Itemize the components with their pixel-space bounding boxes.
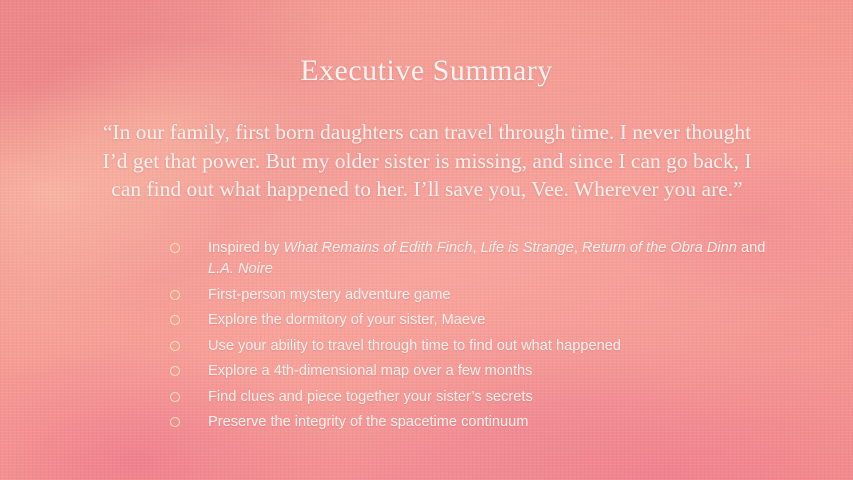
list-item: Inspired by What Remains of Edith Finch,… bbox=[170, 238, 770, 280]
list-item-label: Inspired by What Remains of Edith Finch,… bbox=[208, 238, 770, 280]
quote-paragraph: “In our family, first born daughters can… bbox=[88, 118, 766, 204]
ring-bullet-icon bbox=[170, 243, 180, 253]
list-item: First-person mystery adventure game bbox=[170, 285, 770, 306]
list-item: Explore a 4th-dimensional map over a few… bbox=[170, 361, 770, 382]
list-item: Find clues and piece together your siste… bbox=[170, 387, 770, 408]
ring-bullet-icon bbox=[170, 417, 180, 427]
ring-bullet-icon bbox=[170, 392, 180, 402]
list-item-label: Explore the dormitory of your sister, Ma… bbox=[208, 310, 770, 331]
ring-bullet-icon bbox=[170, 290, 180, 300]
list-item: Explore the dormitory of your sister, Ma… bbox=[170, 310, 770, 331]
list-item: Preserve the integrity of the spacetime … bbox=[170, 412, 770, 433]
page-title: Executive Summary bbox=[0, 54, 853, 88]
list-item-label: Preserve the integrity of the spacetime … bbox=[208, 412, 770, 433]
ring-bullet-icon bbox=[170, 341, 180, 351]
slide-content: Executive Summary “In our family, first … bbox=[0, 0, 853, 480]
list-item-label: Find clues and piece together your siste… bbox=[208, 387, 770, 408]
list-item: Use your ability to travel through time … bbox=[170, 336, 770, 357]
ring-bullet-icon bbox=[170, 315, 180, 325]
ring-bullet-icon bbox=[170, 366, 180, 376]
list-item-label: First-person mystery adventure game bbox=[208, 285, 770, 306]
presentation-slide: Executive Summary “In our family, first … bbox=[0, 0, 853, 480]
list-item-label: Explore a 4th-dimensional map over a few… bbox=[208, 361, 770, 382]
list-item-label: Use your ability to travel through time … bbox=[208, 336, 770, 357]
bullet-list: Inspired by What Remains of Edith Finch,… bbox=[170, 238, 770, 438]
